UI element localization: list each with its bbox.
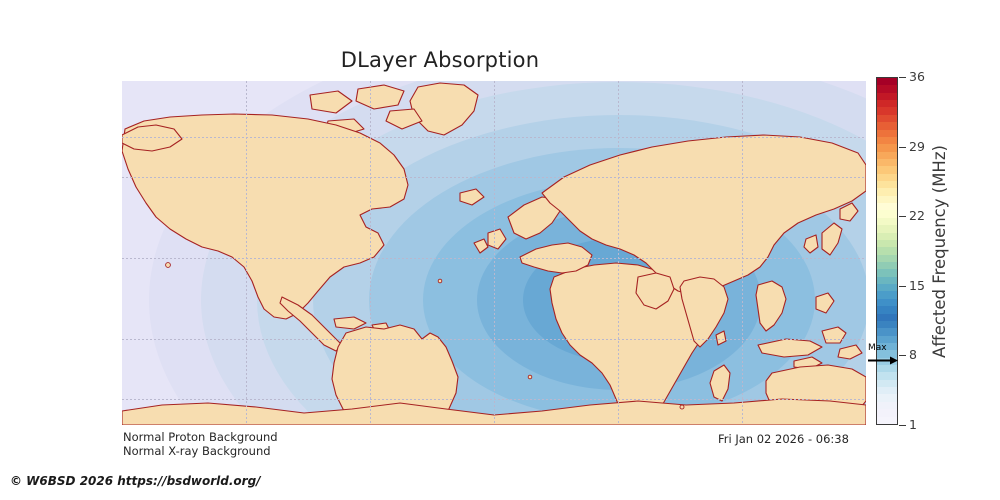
colorbar-swatch	[877, 291, 897, 298]
copyright-label: © W6BSD 2026 https://bsdworld.org/	[10, 474, 261, 488]
colorbar-swatch	[877, 409, 897, 416]
colorbar[interactable]: 3629221581 Max Affected Frequency (MHz)	[876, 77, 996, 429]
gridline-vertical	[494, 81, 495, 425]
colorbar-swatch	[877, 78, 897, 85]
colorbar-axis-label: Affected Frequency (MHz)	[928, 77, 950, 425]
colorbar-tick-mark	[899, 425, 906, 426]
colorbar-swatch	[877, 262, 897, 269]
page-title: DLayer Absorption	[0, 48, 880, 72]
colorbar-swatch	[877, 166, 897, 173]
colorbar-tick-mark	[899, 216, 906, 217]
colorbar-swatch	[877, 387, 897, 394]
colorbar-swatch	[877, 188, 897, 195]
colorbar-swatch	[877, 233, 897, 240]
colorbar-swatch	[877, 85, 897, 92]
colorbar-tick-label: 1	[909, 419, 917, 432]
colorbar-swatch	[877, 130, 897, 137]
colorbar-gradient-strip	[876, 77, 898, 425]
gridline-vertical	[246, 81, 247, 425]
colorbar-swatch	[877, 380, 897, 387]
gridline-vertical	[742, 81, 743, 425]
colorbar-swatch	[877, 277, 897, 284]
colorbar-swatch	[877, 269, 897, 276]
world-map-panel[interactable]	[122, 81, 866, 425]
gridline-horizontal	[122, 177, 866, 178]
colorbar-swatch	[877, 107, 897, 114]
colorbar-tick-label: 15	[909, 280, 925, 293]
colorbar-swatch	[877, 210, 897, 217]
colorbar-swatch	[877, 203, 897, 210]
colorbar-tick-mark	[899, 147, 906, 148]
colorbar-swatch	[877, 394, 897, 401]
colorbar-swatch	[877, 115, 897, 122]
colorbar-swatch	[877, 350, 897, 357]
timestamp-label: Fri Jan 02 2026 - 06:38	[718, 432, 849, 446]
colorbar-tick-label: 8	[909, 349, 917, 362]
colorbar-swatch	[877, 218, 897, 225]
colorbar-swatch	[877, 343, 897, 350]
colorbar-tick-label: 36	[909, 71, 925, 84]
colorbar-swatch	[877, 255, 897, 262]
colorbar-swatch	[877, 100, 897, 107]
gridline-vertical	[370, 81, 371, 425]
colorbar-swatch	[877, 365, 897, 372]
colorbar-axis-label-text: Affected Frequency (MHz)	[930, 145, 949, 358]
colorbar-swatch	[877, 284, 897, 291]
gridline-horizontal	[122, 399, 866, 400]
colorbar-swatch	[877, 122, 897, 129]
proton-background-note: Normal Proton Background	[123, 430, 278, 444]
colorbar-tick-label: 22	[909, 210, 925, 223]
colorbar-swatch	[877, 328, 897, 335]
colorbar-swatch	[877, 372, 897, 379]
colorbar-tick-mark	[899, 286, 906, 287]
colorbar-swatch	[877, 144, 897, 151]
colorbar-swatch	[877, 358, 897, 365]
colorbar-swatch	[877, 417, 897, 424]
gridline-horizontal	[122, 137, 866, 138]
colorbar-swatch	[877, 306, 897, 313]
colorbar-tick-mark	[899, 77, 906, 78]
colorbar-swatch	[877, 174, 897, 181]
colorbar-tick-mark	[899, 355, 906, 356]
colorbar-swatch	[877, 181, 897, 188]
gridline-horizontal	[122, 339, 866, 340]
colorbar-swatch	[877, 240, 897, 247]
colorbar-swatch	[877, 321, 897, 328]
colorbar-swatch	[877, 336, 897, 343]
xray-background-note: Normal X-ray Background	[123, 444, 271, 458]
gridline-horizontal	[122, 258, 866, 259]
colorbar-swatch	[877, 299, 897, 306]
colorbar-swatch	[877, 196, 897, 203]
colorbar-swatch	[877, 402, 897, 409]
colorbar-swatch	[877, 314, 897, 321]
colorbar-swatch	[877, 93, 897, 100]
colorbar-swatch	[877, 137, 897, 144]
colorbar-tick-label: 29	[909, 140, 925, 153]
colorbar-swatch	[877, 225, 897, 232]
colorbar-swatch	[877, 159, 897, 166]
colorbar-swatch	[877, 152, 897, 159]
colorbar-swatch	[877, 247, 897, 254]
gridline-vertical	[618, 81, 619, 425]
